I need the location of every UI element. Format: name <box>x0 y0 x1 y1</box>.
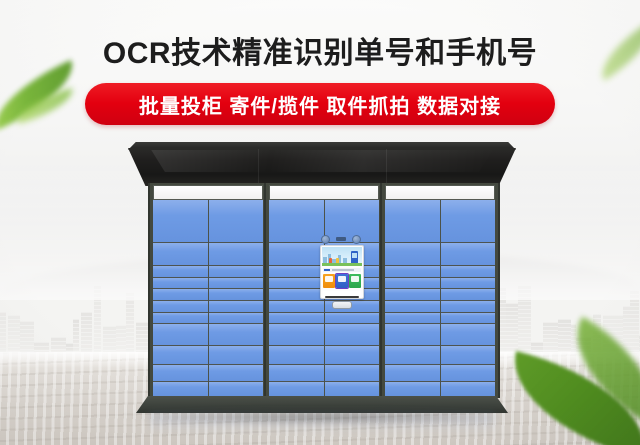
canopy-seam-left <box>258 149 259 184</box>
locker-door[interactable] <box>385 346 440 366</box>
locker-door[interactable] <box>209 346 264 366</box>
poster-canvas: OCR技术精准识别单号和手机号 批量投柜 寄件/揽件 取件抓拍 数据对接 <box>0 0 640 445</box>
locker-door[interactable] <box>269 278 324 289</box>
locker-door[interactable] <box>153 278 208 289</box>
card-slot[interactable] <box>332 301 352 309</box>
locker-door[interactable] <box>209 243 264 266</box>
ship-button[interactable] <box>349 274 361 288</box>
locker-door[interactable] <box>385 200 440 243</box>
locker-door[interactable] <box>153 301 208 312</box>
locker-door[interactable] <box>269 365 324 381</box>
locker-door[interactable] <box>269 313 324 325</box>
locker-door[interactable] <box>209 289 264 301</box>
locker-door[interactable] <box>209 200 264 243</box>
locker-door[interactable] <box>153 289 208 301</box>
door-column <box>385 200 441 396</box>
locker-door[interactable] <box>441 289 496 301</box>
locker-door[interactable] <box>441 324 496 345</box>
locker-door[interactable] <box>209 278 264 289</box>
locker-door[interactable] <box>385 289 440 301</box>
locker-door[interactable] <box>269 346 324 366</box>
locker-door[interactable] <box>441 301 496 312</box>
door-column <box>153 200 209 396</box>
locker-door[interactable] <box>209 301 264 312</box>
screen-bottom-bar <box>325 296 359 298</box>
sensor-row <box>318 234 364 243</box>
locker-door[interactable] <box>153 266 208 278</box>
locker-door[interactable] <box>269 382 324 396</box>
bay-header-strip <box>153 185 263 200</box>
kiosk-screen[interactable] <box>320 245 364 299</box>
door-grid <box>153 200 263 396</box>
locker-door[interactable] <box>153 346 208 366</box>
locker-door[interactable] <box>441 266 496 278</box>
locker-door[interactable] <box>325 313 380 325</box>
locker-door[interactable] <box>325 346 380 366</box>
locker-door[interactable] <box>441 313 496 325</box>
locker-door[interactable] <box>269 289 324 301</box>
locker-door[interactable] <box>269 266 324 278</box>
locker-door[interactable] <box>441 243 496 266</box>
locker-shadow <box>120 409 524 425</box>
door-column <box>209 200 264 396</box>
canopy-highlight <box>151 150 492 172</box>
locker-door[interactable] <box>325 365 380 381</box>
locker-door[interactable] <box>441 382 496 396</box>
locker-door[interactable] <box>385 313 440 325</box>
locker-door[interactable] <box>153 324 208 345</box>
door-column <box>441 200 496 396</box>
locker-door[interactable] <box>269 200 324 243</box>
locker-door[interactable] <box>441 365 496 381</box>
locker-door[interactable] <box>153 365 208 381</box>
locker-door[interactable] <box>385 324 440 345</box>
locker-door[interactable] <box>209 365 264 381</box>
locker-bay <box>148 183 268 398</box>
door-column <box>269 200 325 396</box>
locker-bay <box>380 183 500 398</box>
canopy-seam-right <box>386 149 387 184</box>
locker-door[interactable] <box>269 301 324 312</box>
locker-door[interactable] <box>441 200 496 243</box>
door-grid <box>385 200 495 396</box>
screen-action-buttons[interactable] <box>323 274 361 288</box>
feature-banner: 批量投柜 寄件/揽件 取件抓拍 数据对接 <box>85 83 555 125</box>
scanner-bar-icon <box>336 237 346 241</box>
locker-door[interactable] <box>153 200 208 243</box>
bay-header-strip <box>269 185 379 200</box>
locker-door[interactable] <box>385 278 440 289</box>
screen-illustration <box>322 247 362 266</box>
locker-door[interactable] <box>385 382 440 396</box>
camera-icon-right <box>352 235 361 244</box>
locker-door[interactable] <box>209 313 264 325</box>
locker-door[interactable] <box>385 365 440 381</box>
camera-icon-left <box>321 235 330 244</box>
bay-header-strip <box>385 185 495 200</box>
ground-illustration <box>322 263 362 266</box>
pickup-button[interactable] <box>336 274 348 288</box>
feature-banner-label: 批量投柜 寄件/揽件 取件抓拍 数据对接 <box>139 90 501 119</box>
locker-door[interactable] <box>325 324 380 345</box>
locker-door[interactable] <box>153 243 208 266</box>
locker-door[interactable] <box>385 266 440 278</box>
canopy-roof <box>128 142 516 186</box>
deposit-button[interactable] <box>323 274 335 288</box>
locker-door[interactable] <box>209 382 264 396</box>
locker-door[interactable] <box>441 346 496 366</box>
locker-door[interactable] <box>441 278 496 289</box>
locker-door[interactable] <box>385 301 440 312</box>
locker-door[interactable] <box>269 243 324 266</box>
locker-door[interactable] <box>385 243 440 266</box>
screen-notice-bar <box>323 268 361 272</box>
locker-door[interactable] <box>269 324 324 345</box>
page-title: OCR技术精准识别单号和手机号 <box>0 28 640 72</box>
locker-door[interactable] <box>209 266 264 278</box>
locker-door[interactable] <box>325 382 380 396</box>
kiosk-panel[interactable] <box>318 234 364 310</box>
locker-door[interactable] <box>153 313 208 325</box>
locker-door[interactable] <box>153 382 208 396</box>
locker-door[interactable] <box>209 324 264 345</box>
